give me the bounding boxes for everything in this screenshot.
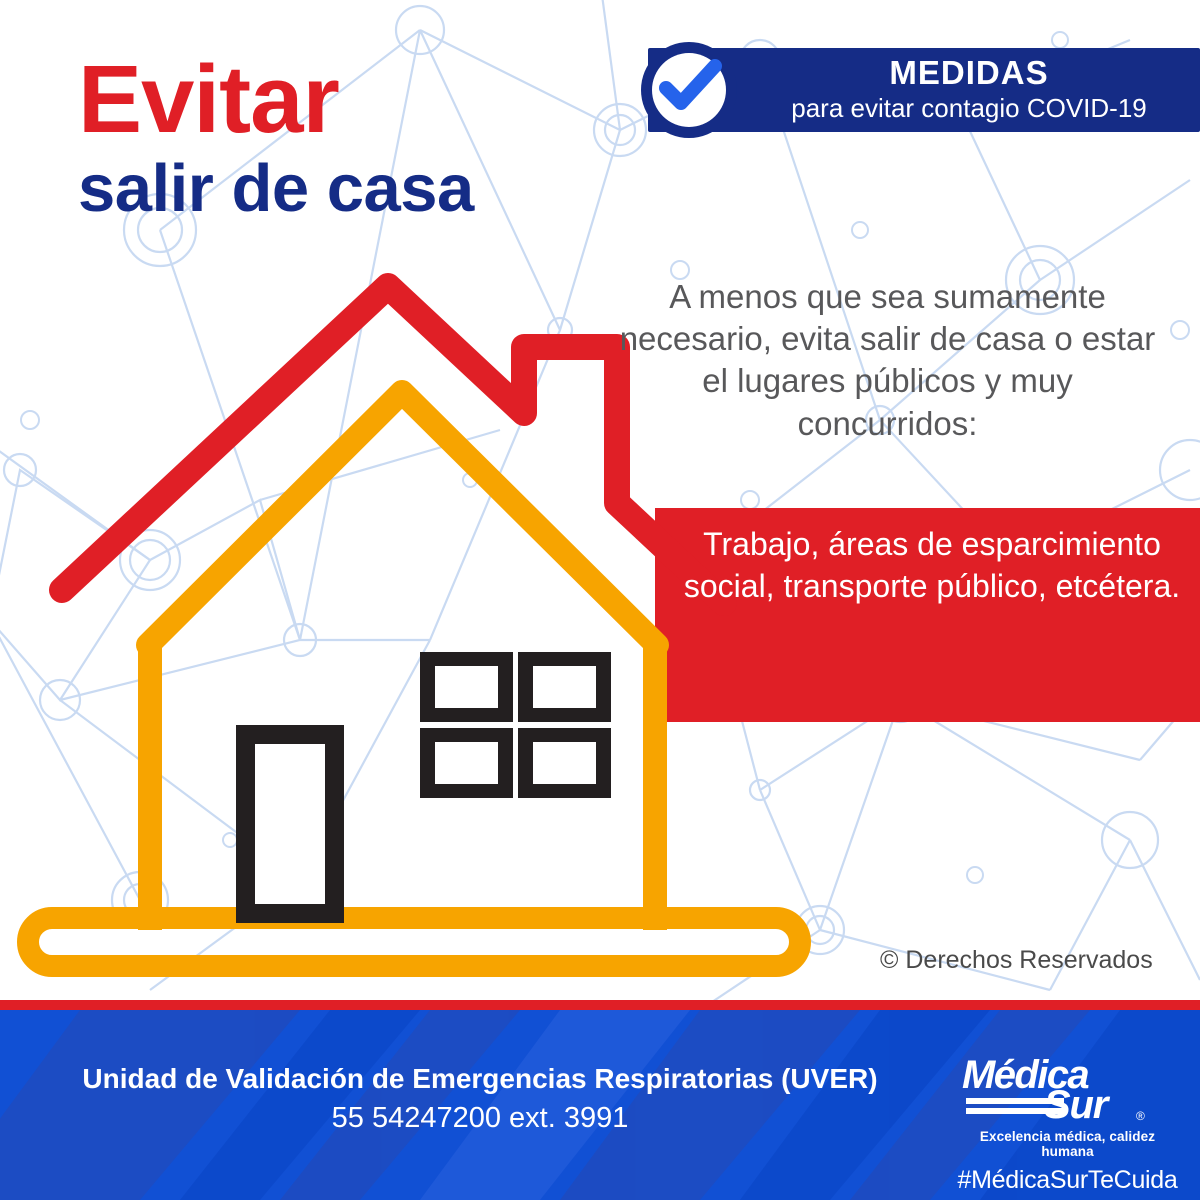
- copyright-notice: © Derechos Reservados: [880, 946, 1153, 975]
- check-mark-icon: [646, 44, 732, 130]
- logo-glyphs: Médica Sur ®: [960, 1054, 1175, 1126]
- header-badge-text: MEDIDAS para evitar contagio COVID-19: [748, 48, 1190, 132]
- logo-tagline: Excelencia médica, calidez humana: [955, 1129, 1180, 1159]
- medica-sur-logo: Médica Sur ® Excelencia médica, calidez …: [955, 1054, 1180, 1195]
- logo-wordmark: Médica Sur ®: [960, 1054, 1175, 1126]
- header-badge-subtitle: para evitar contagio COVID-19: [791, 93, 1147, 124]
- poster-canvas: Evitar salir de casa MEDIDAS para evitar…: [0, 0, 1200, 1200]
- logo-registered-mark: ®: [1136, 1109, 1145, 1123]
- logo-hashtag: #MédicaSurTeCuida: [955, 1166, 1180, 1195]
- page-title: Evitar salir de casa: [78, 52, 474, 224]
- footer-phone-number: 55 54247200 ext. 3991: [40, 1100, 920, 1136]
- footer-contact-block: Unidad de Validación de Emergencias Resp…: [40, 1062, 920, 1136]
- header-badge: MEDIDAS para evitar contagio COVID-19: [648, 48, 1200, 132]
- logo-word-sur: Sur: [1044, 1083, 1111, 1126]
- footer-unit-name: Unidad de Validación de Emergencias Resp…: [40, 1062, 920, 1096]
- red-band-text: Trabajo, áreas de esparcimiento social, …: [672, 524, 1192, 607]
- footer-accent-stripe: [0, 1000, 1200, 1010]
- footer-bar: Unidad de Validación de Emergencias Resp…: [0, 1010, 1200, 1200]
- check-circle-icon: [641, 42, 737, 138]
- page-title-line1: Evitar: [78, 52, 474, 148]
- header-badge-title: MEDIDAS: [889, 56, 1048, 91]
- page-title-line2: salir de casa: [78, 154, 474, 224]
- intro-paragraph: A menos que sea sumamente necesario, evi…: [615, 276, 1160, 445]
